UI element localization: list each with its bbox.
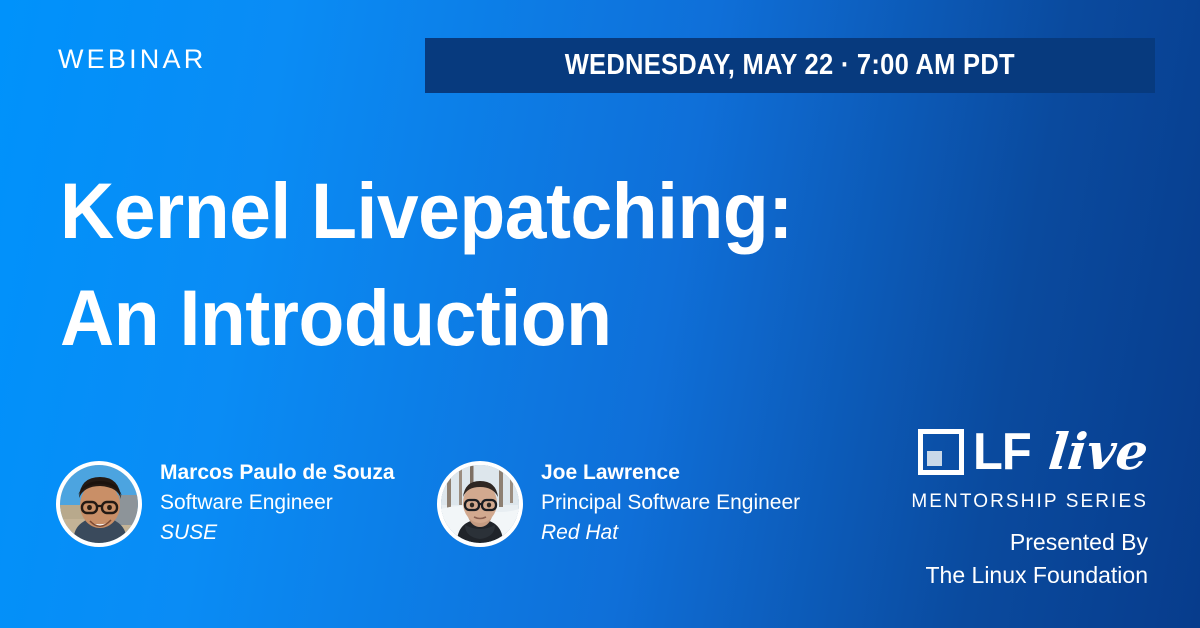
presented-by-label: Presented By <box>1010 526 1148 559</box>
speaker-role: Software Engineer <box>160 488 395 518</box>
lf-live-script: live <box>1047 427 1151 477</box>
lf-live-logo-block: LF live MENTORSHIP SERIES Presented By T… <box>911 424 1148 591</box>
speaker-org: SUSE <box>160 518 395 548</box>
webinar-promo-banner: WEBINAR WEDNESDAY, MAY 22 · 7:00 AM PDT … <box>0 0 1200 628</box>
speaker-card: Joe Lawrence Principal Software Engineer… <box>437 458 800 549</box>
page-title: Kernel Livepatching: An Introduction <box>60 158 960 371</box>
lf-logo-row: LF live <box>918 424 1148 480</box>
title-line-2: An Introduction <box>60 265 915 372</box>
date-text: WEDNESDAY, MAY 22 · 7:00 AM PDT <box>565 49 1015 82</box>
speaker-name: Marcos Paulo de Souza <box>160 458 395 488</box>
speaker-photo-joe <box>441 465 519 543</box>
speaker-photo-marcos <box>60 465 138 543</box>
speaker-info: Marcos Paulo de Souza Software Engineer … <box>160 458 395 549</box>
avatar <box>437 461 523 547</box>
speaker-role: Principal Software Engineer <box>541 488 800 518</box>
organization-name: The Linux Foundation <box>926 559 1149 592</box>
lf-letters: LF <box>973 426 1031 478</box>
speaker-card: Marcos Paulo de Souza Software Engineer … <box>56 458 395 549</box>
speaker-name: Joe Lawrence <box>541 458 800 488</box>
eyebrow-label: WEBINAR <box>58 46 206 73</box>
speaker-info: Joe Lawrence Principal Software Engineer… <box>541 458 800 549</box>
mentorship-series-label: MENTORSHIP SERIES <box>911 491 1148 513</box>
date-banner: WEDNESDAY, MAY 22 · 7:00 AM PDT <box>425 38 1155 93</box>
speaker-org: Red Hat <box>541 518 800 548</box>
lf-square-mark-icon <box>918 429 964 475</box>
title-line-1: Kernel Livepatching: <box>60 158 915 265</box>
avatar <box>56 461 142 547</box>
